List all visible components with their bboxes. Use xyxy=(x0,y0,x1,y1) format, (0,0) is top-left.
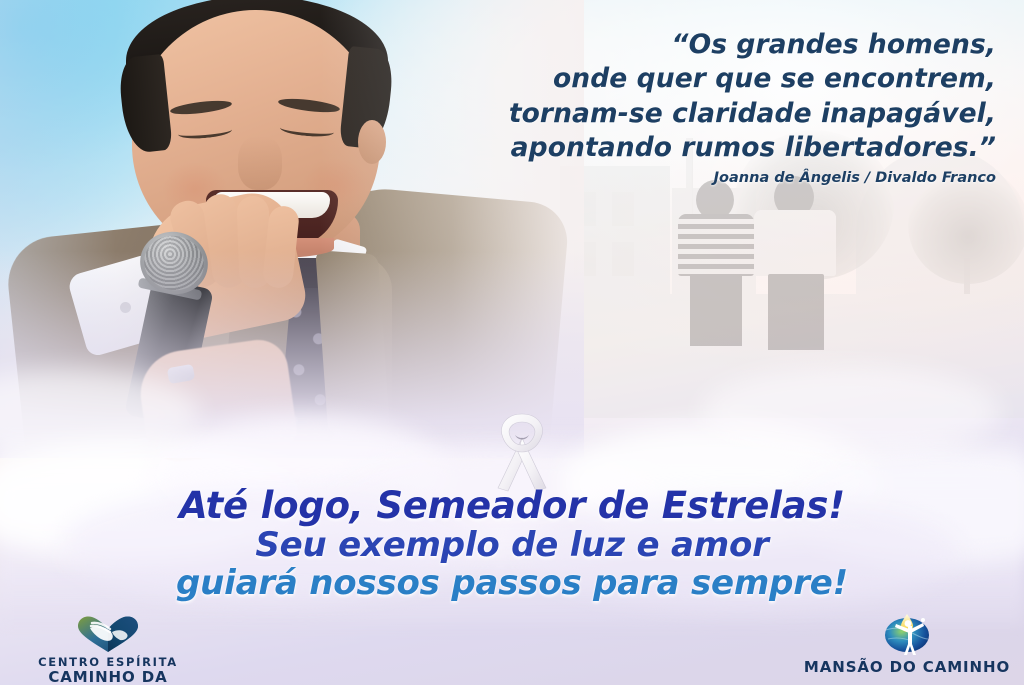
globe-figure-flame-logo-icon xyxy=(876,608,938,656)
headline-text: Até logo, Semeador de Estrelas! Seu exem… xyxy=(0,486,1024,602)
logo-left-line-1: CENTRO ESPÍRITA xyxy=(8,655,208,669)
logo-centro-espirita: CENTRO ESPÍRITA CAMINHO DA REDENÇÃO xyxy=(8,614,208,685)
hands-heart-logo-icon xyxy=(74,614,142,654)
quote-attribution: Joanna de Ângelis / Divaldo Franco xyxy=(440,170,996,186)
white-mourning-ribbon-icon xyxy=(482,408,562,492)
logo-mansao-do-caminho: MANSÃO DO CAMINHO xyxy=(802,608,1012,676)
headline-line-2: Seu exemplo de luz e amor xyxy=(0,526,1024,564)
headline-line-3: guiará nossos passos para sempre! xyxy=(0,564,1024,602)
headline-line-1: Até logo, Semeador de Estrelas! xyxy=(0,486,1024,526)
quote-text: “Os grandes homens, onde quer que se enc… xyxy=(440,28,996,166)
quote-line-3: tornam-se claridade inapagável, xyxy=(440,97,996,131)
logo-left-line-2: CAMINHO DA REDENÇÃO xyxy=(8,668,208,685)
quote-line-4: apontando rumos libertadores.” xyxy=(440,131,996,165)
quote-line-2: onde quer que se encontrem, xyxy=(440,62,996,96)
quote-line-1: “Os grandes homens, xyxy=(440,28,996,62)
logo-right-line-1: MANSÃO DO CAMINHO xyxy=(802,658,1012,676)
memorial-poster: “Os grandes homens, onde quer que se enc… xyxy=(0,0,1024,685)
